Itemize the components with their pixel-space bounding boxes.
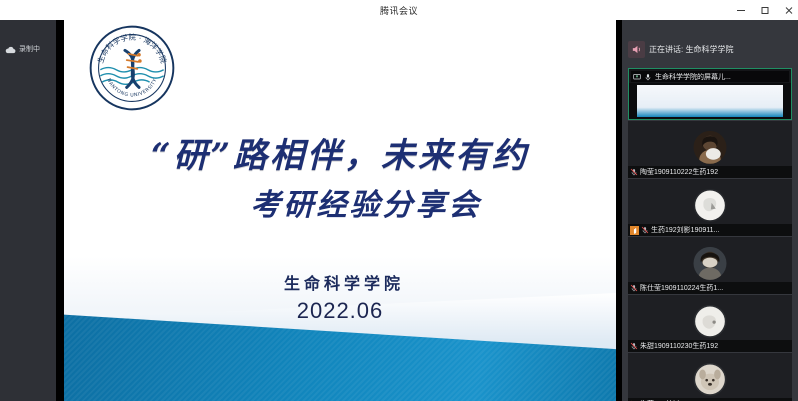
screen-share-icon (633, 73, 641, 81)
active-speaker-indicator: 正在讲话: 生命科学学院 (628, 40, 733, 58)
share-tile-slide-thumbnail (637, 85, 783, 117)
person-photo-icon (694, 246, 727, 279)
mic-muted-icon (630, 284, 638, 292)
recording-label: 录制中 (19, 44, 40, 54)
participant-tile[interactable]: 朱甜1909110230生药192 (628, 295, 792, 352)
participant-label: 生命科学学院的屏幕儿... (655, 72, 731, 82)
participant-label: 生药192刘影190911... (651, 225, 719, 235)
avatar (694, 362, 727, 395)
speaker-icon (628, 41, 645, 58)
participant-label: 陶莹1909110222生药192 (640, 167, 718, 177)
left-rail: 录制中 (0, 20, 56, 401)
person-photo-icon (694, 188, 727, 221)
participant-label-bar: 朱甜1909110230生药192 (628, 340, 792, 352)
mic-muted-icon (630, 342, 638, 350)
active-speaker-label: 正在讲话: 生命科学学院 (649, 44, 733, 55)
slide-date: 2022.06 (64, 298, 616, 324)
avatar (694, 130, 727, 163)
avatar (694, 246, 727, 279)
participant-label-bar: 生药192刘影190911... (628, 224, 792, 236)
participant-tile[interactable]: 陈仕莹1909110224生药1... (628, 237, 792, 294)
tencent-meeting-window: 腾讯会议 录制中 (0, 0, 798, 401)
share-tile-preview (629, 83, 791, 119)
participant-tiles: 生命科学学院的屏幕儿... (622, 68, 798, 401)
slide-subtitle: 考研经验分享会 (64, 180, 616, 224)
cloud-icon (5, 45, 16, 54)
participant-tile[interactable]: 生药192刘影190911... (628, 179, 792, 236)
window-controls (735, 0, 794, 20)
participant-panel: 正在讲话: 生命科学学院 生命科学学院的屏幕儿... (622, 20, 798, 401)
participant-tile[interactable]: 陶莹1909110222生药192 (628, 121, 792, 178)
slide-organization: 生命科学学院 (64, 270, 616, 294)
avatar (694, 188, 727, 221)
university-logo: 生命科学学院 · 海洋学院 NANTONG UNIVERSITY (88, 24, 176, 112)
mic-muted-icon (641, 226, 649, 234)
participant-tile[interactable]: 生药192韩钊 (628, 353, 792, 401)
window-title: 腾讯会议 (380, 4, 418, 17)
maximize-button[interactable] (759, 5, 770, 16)
mic-icon (644, 73, 652, 81)
person-photo-icon (694, 130, 727, 163)
shared-screen-stage[interactable]: 生命科学学院 · 海洋学院 NANTONG UNIVERSITY “研”路相伴，… (56, 20, 622, 401)
logo-emblem-icon: 生命科学学院 · 海洋学院 NANTONG UNIVERSITY (88, 24, 176, 112)
participant-tile-screen-share[interactable]: 生命科学学院的屏幕儿... (628, 68, 792, 120)
slide-title: “研”路相伴，未来有约 (64, 128, 616, 177)
person-photo-icon (694, 362, 727, 395)
avatar (694, 304, 727, 337)
hand-raised-icon (630, 226, 639, 235)
share-tile-label-bar: 生命科学学院的屏幕儿... (631, 71, 789, 82)
participant-label-bar: 陶莹1909110222生药192 (628, 166, 792, 178)
participant-label: 朱甜1909110230生药192 (640, 341, 718, 351)
minimize-button[interactable] (735, 5, 746, 16)
participant-label-bar: 陈仕莹1909110224生药1... (628, 282, 792, 294)
window-titlebar: 腾讯会议 (0, 0, 798, 20)
mic-muted-icon (630, 168, 638, 176)
participant-label: 陈仕莹1909110224生药1... (640, 283, 723, 293)
person-photo-icon (694, 304, 727, 337)
close-button[interactable] (783, 5, 794, 16)
recording-indicator[interactable]: 录制中 (5, 44, 40, 54)
presentation-slide: 生命科学学院 · 海洋学院 NANTONG UNIVERSITY “研”路相伴，… (64, 20, 616, 401)
